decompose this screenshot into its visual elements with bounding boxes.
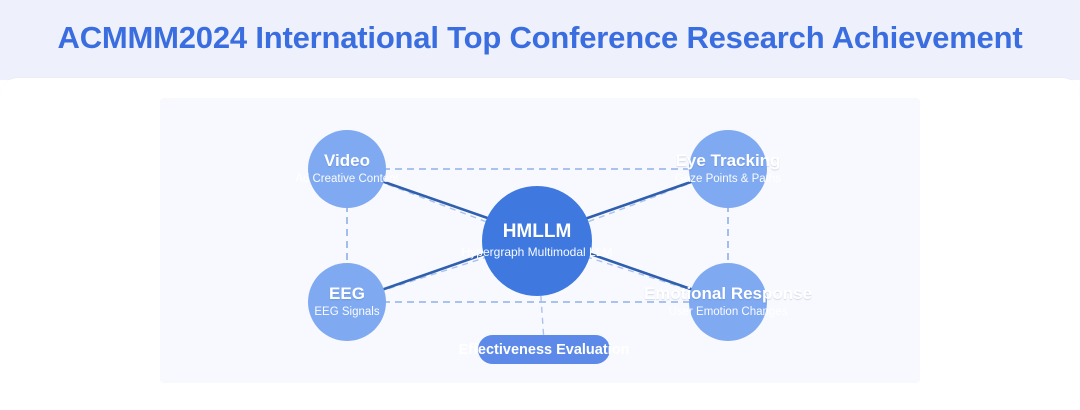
node-hmllm-subtitle: Hypergraph Multimodal LLM [462,246,613,260]
node-eeg-subtitle: EEG Signals [314,306,379,319]
page-root: ACMMM2024 International Top Conference R… [0,0,1080,410]
node-eye-tracking-title: Eye Tracking [676,152,781,171]
node-eeg[interactable]: EEG EEG Signals [308,263,386,341]
node-video-title: Video [324,152,370,171]
node-emotional-response[interactable]: Emotional Response User Emotion Changes [689,263,767,341]
node-eye-tracking[interactable]: Eye Tracking Gaze Points & Paths [689,130,767,208]
node-emotional-response-subtitle: User Emotion Changes [669,306,788,319]
node-eeg-title: EEG [329,285,365,304]
diagram-panel: Video Ad Creative Content Eye Tracking G… [160,98,920,383]
effectiveness-evaluation-pill[interactable]: Effectiveness Evaluation [478,335,610,364]
page-title: ACMMM2024 International Top Conference R… [0,20,1080,56]
node-eye-tracking-subtitle: Gaze Points & Paths [675,173,781,186]
effectiveness-evaluation-label: Effectiveness Evaluation [459,342,630,358]
node-video-subtitle: Ad Creative Content [295,173,399,186]
node-video[interactable]: Video Ad Creative Content [308,130,386,208]
header-band: ACMMM2024 International Top Conference R… [0,0,1080,80]
node-hmllm-title: HMLLM [503,222,572,243]
node-hmllm-center[interactable]: HMLLM Hypergraph Multimodal LLM [482,186,592,296]
node-emotional-response-title: Emotional Response [644,285,812,304]
